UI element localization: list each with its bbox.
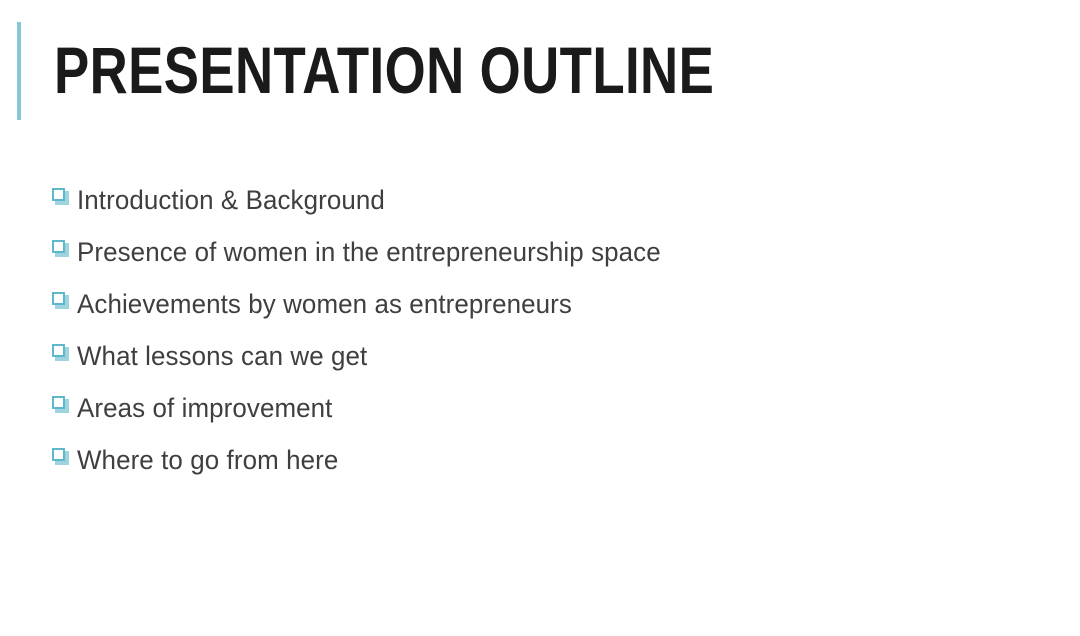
list-item[interactable]: What lessons can we get — [0, 330, 1080, 382]
list-item[interactable]: Introduction & Background — [0, 174, 1080, 226]
open-square-bullet-icon — [52, 188, 69, 205]
open-square-bullet-icon — [52, 396, 69, 413]
list-item[interactable]: Where to go from here — [0, 434, 1080, 486]
list-item-label: Areas of improvement — [77, 392, 332, 424]
list-item[interactable]: Achievements by women as entrepreneurs — [0, 278, 1080, 330]
open-square-bullet-icon — [52, 240, 69, 257]
open-square-bullet-icon — [52, 344, 69, 361]
open-square-bullet-icon — [52, 292, 69, 309]
list-item-label: What lessons can we get — [77, 340, 367, 372]
list-item[interactable]: Areas of improvement — [0, 382, 1080, 434]
list-item-label: Where to go from here — [77, 444, 338, 476]
list-item[interactable]: Presence of women in the entrepreneurshi… — [0, 226, 1080, 278]
list-item-label: Introduction & Background — [77, 184, 385, 216]
list-item-label: Achievements by women as entrepreneurs — [77, 288, 572, 320]
list-item-label: Presence of women in the entrepreneurshi… — [77, 236, 661, 268]
title-accent-bar-icon — [17, 22, 21, 120]
slide-title-area: PRESENTATION OUTLINE — [0, 0, 1080, 140]
outline-bullet-list: Introduction & Background Presence of wo… — [0, 174, 1080, 486]
slide-body-area: Introduction & Background Presence of wo… — [0, 174, 1080, 486]
presentation-slide: PRESENTATION OUTLINE Introduction & Back… — [0, 0, 1080, 636]
open-square-bullet-icon — [52, 448, 69, 465]
page-title: PRESENTATION OUTLINE — [54, 30, 714, 110]
